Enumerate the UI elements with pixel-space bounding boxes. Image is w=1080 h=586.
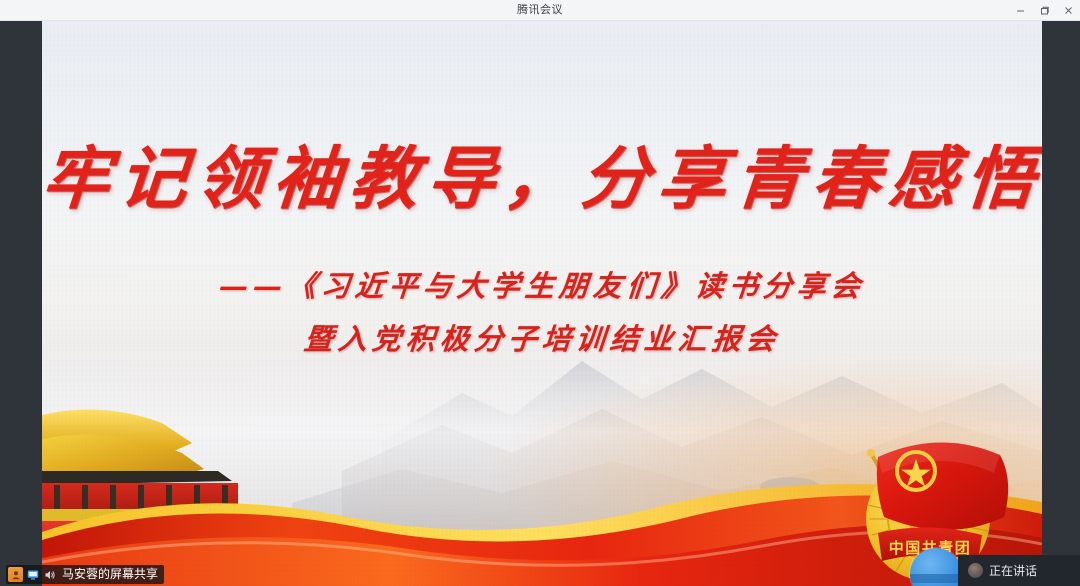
shared-screen-stage: 中国共青团 牢记领袖教导，分享青春感悟 ——《习近平与大学生朋友们》读书分享会 … (0, 21, 1080, 586)
share-badge-label: 马安蓉的屏幕共享 (62, 566, 158, 583)
presentation-slide: 中国共青团 牢记领袖教导，分享青春感悟 ——《习近平与大学生朋友们》读书分享会 … (42, 21, 1042, 586)
tencent-meeting-window: 腾讯会议 (0, 0, 1080, 586)
avatar (968, 563, 983, 578)
title-bar: 腾讯会议 (0, 0, 1080, 21)
slide-subtitle-primary: ——《习近平与大学生朋友们》读书分享会 (42, 269, 1042, 304)
screen-share-badge[interactable]: 马安蓉的屏幕共享 (6, 565, 164, 584)
status-badge: 正在讲话 (989, 562, 1037, 579)
minimize-button[interactable] (1008, 0, 1032, 21)
window-title: 腾讯会议 (517, 0, 563, 20)
person-icon (8, 567, 23, 582)
maximize-restore-button[interactable] (1032, 0, 1056, 21)
close-button[interactable] (1056, 0, 1080, 21)
active-speaker-tile[interactable]: 正在讲话 (958, 555, 1080, 586)
page-title: 牢记领袖教导，分享青春感悟 (42, 141, 1042, 217)
video-bubble-band (910, 574, 962, 583)
window-controls (1008, 0, 1080, 21)
monitor-share-icon (26, 568, 40, 582)
speaker-icon (43, 568, 57, 582)
